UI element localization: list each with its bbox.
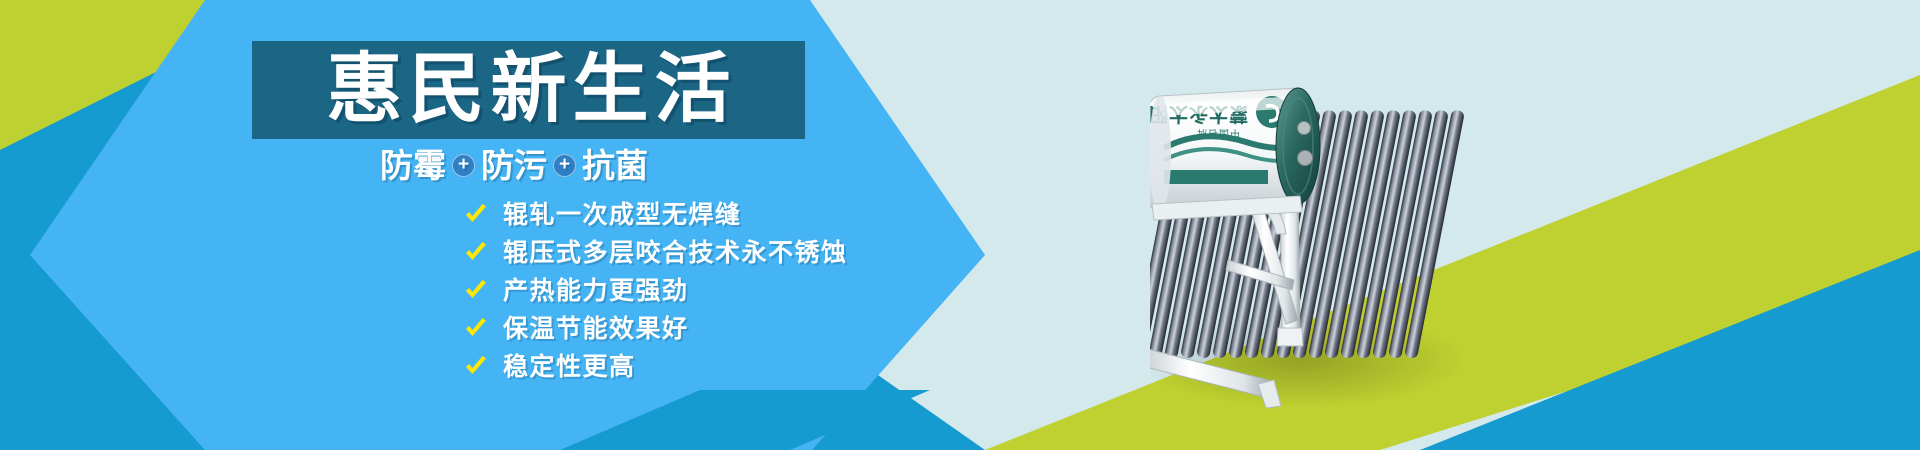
list-item: 辊轧一次成型无焊缝	[463, 196, 883, 234]
feature-list: 辊轧一次成型无焊缝 辊压式多层咬合技术永不锈蚀 产热能力更强劲 保温节能效果好 …	[463, 196, 883, 386]
product-image-solar-water-heater: 蒙太永太阳能 中国名牌	[1150, 8, 1570, 438]
subtitle-part-1: 防霉	[380, 149, 446, 182]
plus-badge-icon: +	[452, 154, 475, 177]
list-item-label: 保温节能效果好	[503, 317, 689, 342]
check-icon	[463, 354, 489, 380]
subtitle-row: 防霉 + 防污 + 抗菌	[380, 144, 810, 186]
list-item: 产热能力更强劲	[463, 272, 883, 310]
subtitle-part-2: 防污	[481, 149, 547, 182]
list-item-label: 辊轧一次成型无焊缝	[503, 203, 742, 228]
check-icon	[463, 316, 489, 342]
tank-sub-text: 中国名牌	[1196, 127, 1240, 140]
check-icon	[463, 278, 489, 304]
list-item-label: 稳定性更高	[503, 355, 636, 380]
list-item: 稳定性更高	[463, 348, 883, 386]
list-item-label: 产热能力更强劲	[503, 279, 689, 304]
tank-port-upper	[1298, 122, 1311, 135]
water-tank: 蒙太永太阳能 中国名牌	[1150, 88, 1320, 212]
subtitle-part-3: 抗菌	[582, 149, 648, 182]
headline-box: 惠民新生活	[252, 41, 805, 139]
check-icon	[463, 202, 489, 228]
list-item-label: 辊压式多层咬合技术永不锈蚀	[503, 241, 848, 266]
plus-badge-icon: +	[553, 154, 576, 177]
tank-port-lower	[1298, 151, 1313, 166]
check-icon	[463, 240, 489, 266]
list-item: 辊压式多层咬合技术永不锈蚀	[463, 234, 883, 272]
page-title: 惠民新生活	[321, 52, 737, 128]
list-item: 保温节能效果好	[463, 310, 883, 348]
promo-banner: 惠民新生活 防霉 + 防污 + 抗菌 辊轧一次成型无焊缝 辊压式多层咬合技术永不…	[0, 0, 1920, 450]
